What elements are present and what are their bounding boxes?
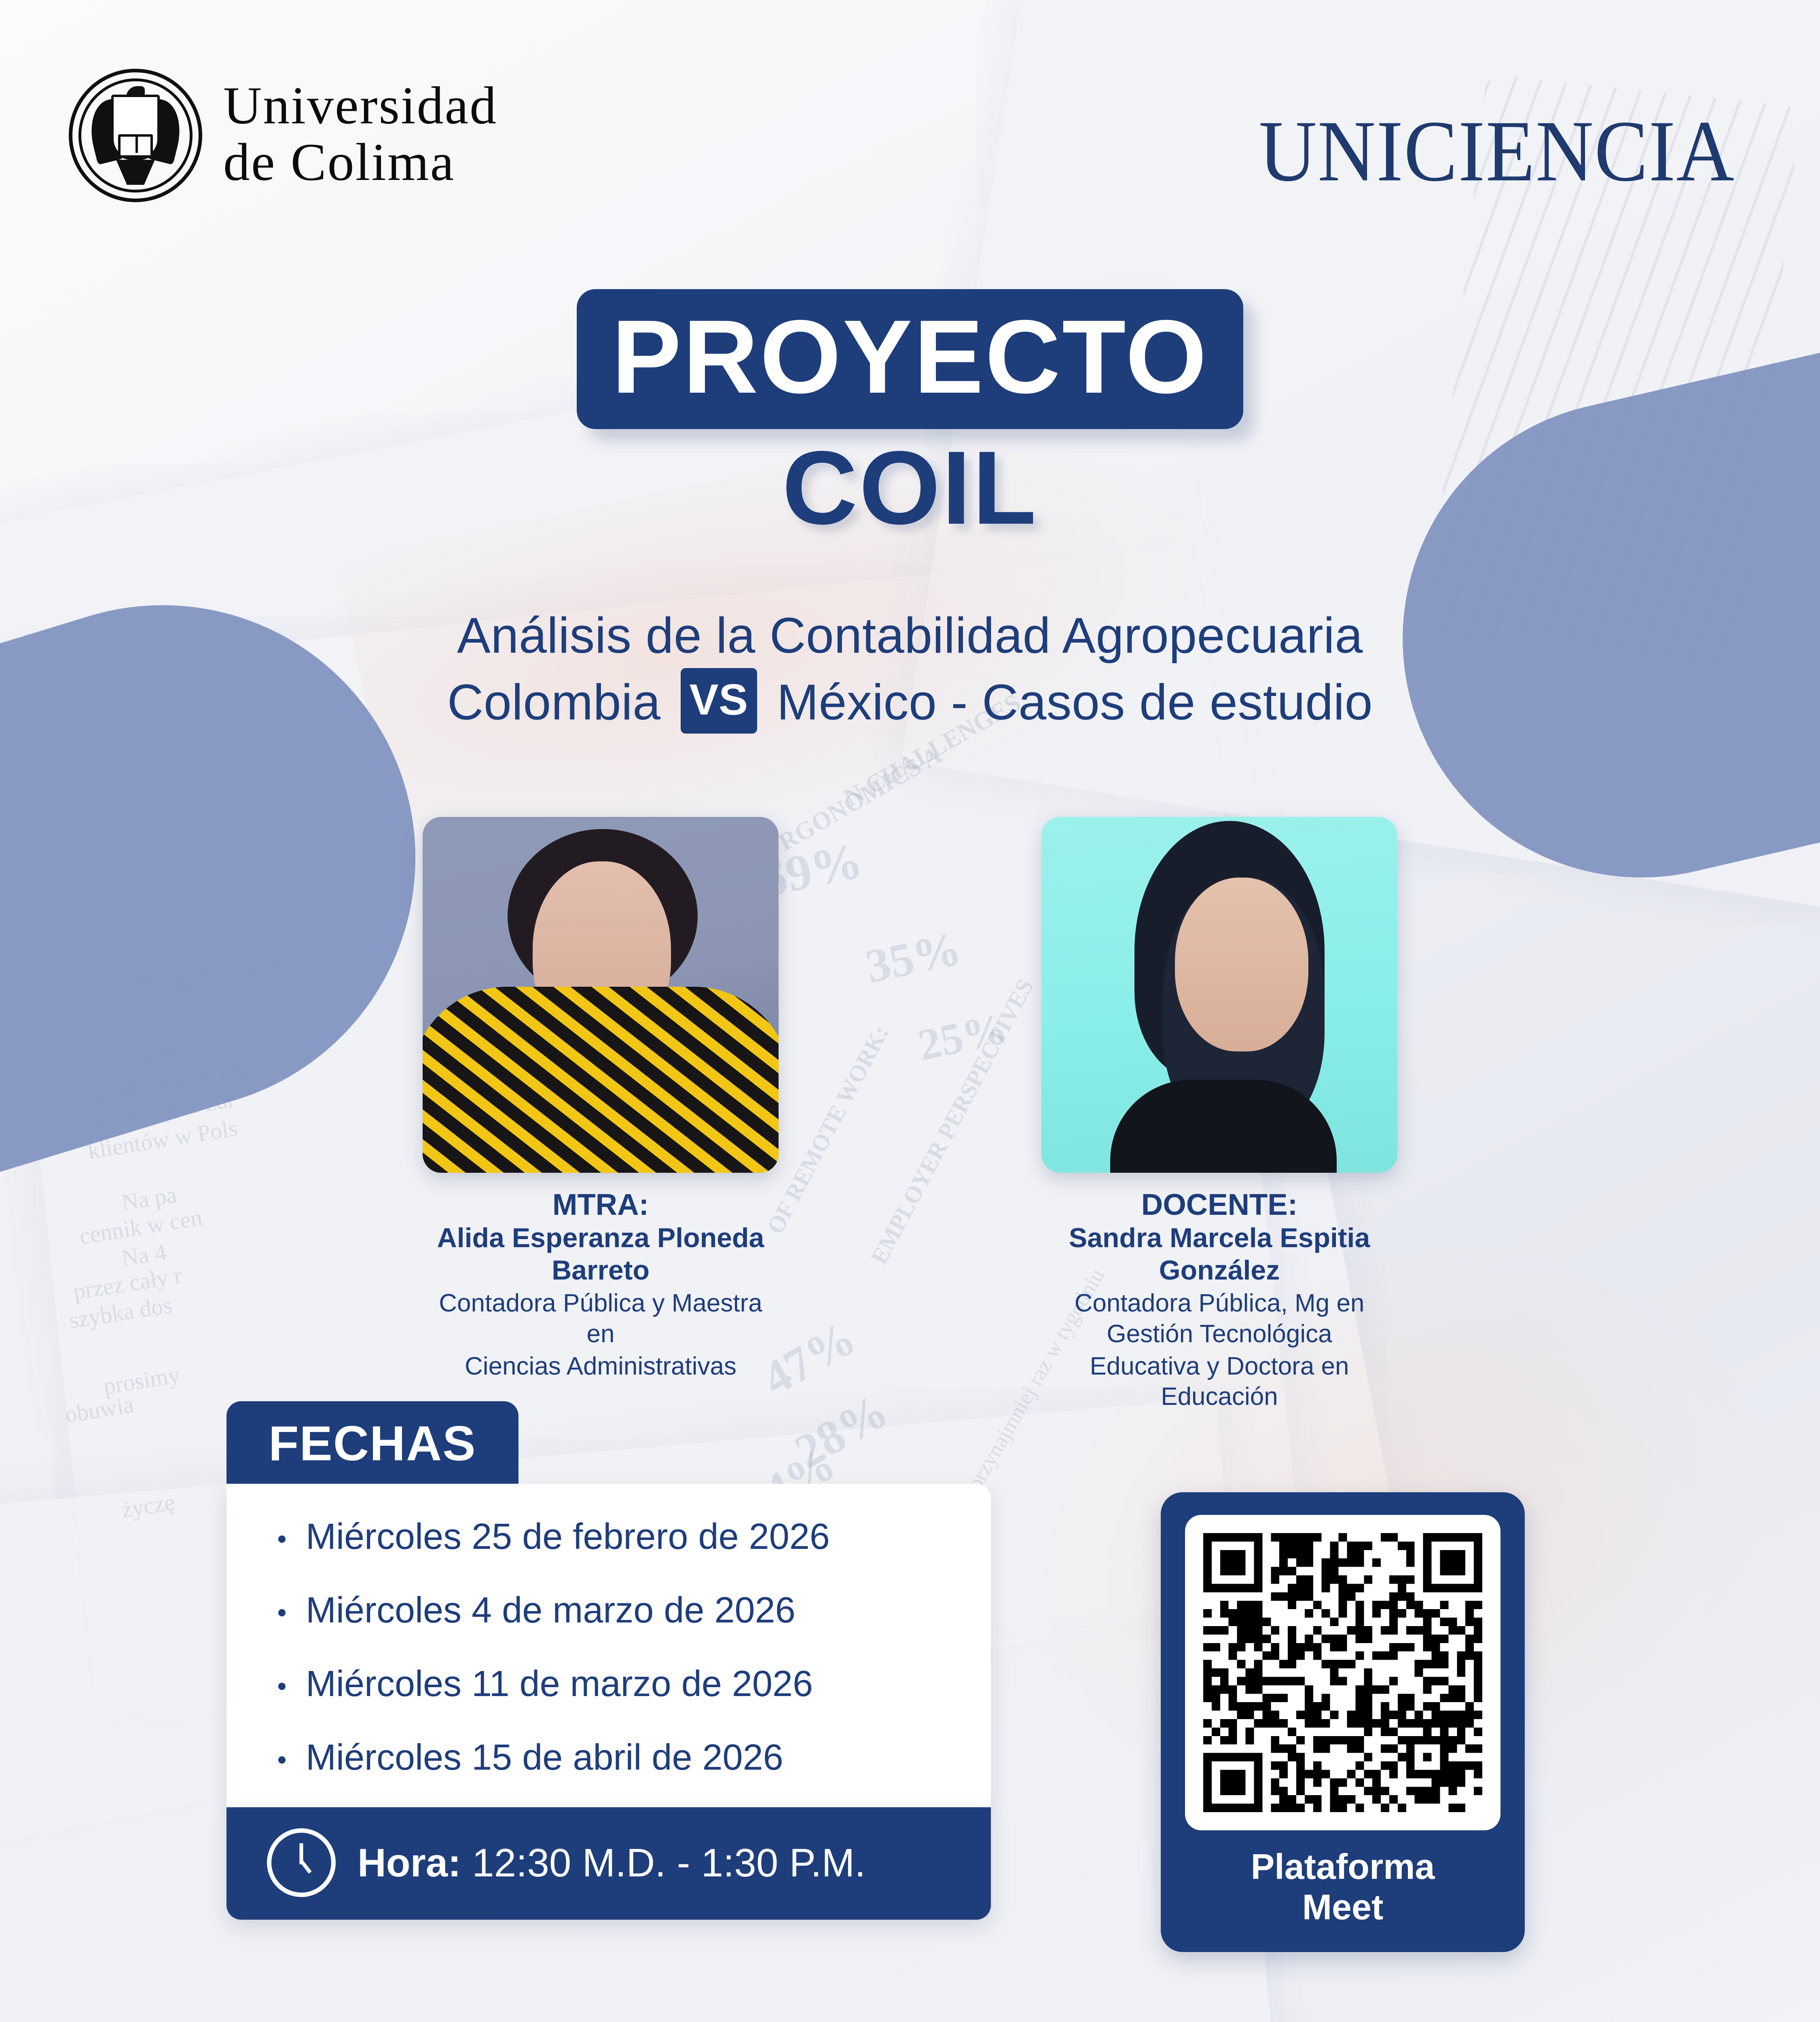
dates-card: FECHAS Miércoles 25 de febrero de 2026 M…	[226, 1401, 991, 1920]
time-value: 12:30 M.D. - 1:30 P.M.	[472, 1840, 866, 1885]
speaker-photo-2	[1041, 817, 1397, 1173]
dates-list-container: Miércoles 25 de febrero de 2026 Miércole…	[226, 1484, 991, 1807]
time-bar: Hora: 12:30 M.D. - 1:30 P.M.	[226, 1807, 991, 1920]
vs-badge: VS	[681, 668, 757, 734]
title-line2: COIL	[0, 433, 1820, 543]
date-item: Miércoles 15 de abril de 2026	[278, 1739, 991, 1776]
speaker-desc-1-line2: Ciencias Administrativas	[423, 1351, 779, 1382]
speaker-desc-2-line1: Contadora Pública, Mg en Gestión Tecnoló…	[1041, 1288, 1397, 1349]
clock-icon	[267, 1828, 336, 1897]
date-item: Miércoles 11 de marzo de 2026	[278, 1666, 991, 1702]
university-name-line1: Universidad	[223, 79, 497, 132]
qr-caption-line1: Plataforma	[1161, 1846, 1525, 1887]
speaker-name-2: Sandra Marcela Espitia González	[1041, 1222, 1397, 1286]
speaker-card-1: MTRA: Alida Esperanza Ploneda Barreto Co…	[423, 817, 779, 1412]
poster-subtitle: Análisis de la Contabilidad Agropecuaria…	[0, 603, 1820, 738]
time-text: Hora: 12:30 M.D. - 1:30 P.M.	[358, 1843, 866, 1882]
date-item: Miércoles 25 de febrero de 2026	[278, 1519, 991, 1555]
subtitle-country-mexico: México - Casos de estudio	[777, 675, 1373, 730]
dates-list: Miércoles 25 de febrero de 2026 Miércole…	[226, 1519, 991, 1776]
speaker-role-2: DOCENTE:	[1041, 1188, 1397, 1222]
qr-card[interactable]: Plataforma Meet	[1161, 1492, 1525, 1952]
qr-caption: Plataforma Meet	[1161, 1846, 1525, 1928]
qr-code-frame	[1185, 1515, 1500, 1830]
poster-root: Drogi Kliencie, Chcemy producentem obu j…	[0, 0, 1820, 2022]
subtitle-line1: Análisis de la Contabilidad Agropecuaria	[0, 603, 1820, 669]
dates-tab-label: FECHAS	[226, 1401, 518, 1484]
subtitle-country-colombia: Colombia	[447, 675, 661, 730]
speaker-name-1: Alida Esperanza Ploneda Barreto	[423, 1222, 779, 1286]
qr-caption-line2: Meet	[1161, 1887, 1525, 1927]
uniciencia-logo: UNICIENCIA	[1259, 101, 1735, 201]
university-logo: Universidad de Colima	[69, 69, 497, 202]
title-line1: PROYECTO	[577, 289, 1243, 429]
subtitle-line2: Colombia VS México - Casos de estudio	[0, 669, 1820, 738]
university-seal-icon	[69, 69, 202, 202]
time-label: Hora:	[358, 1840, 461, 1885]
speaker-photo-1	[423, 817, 779, 1173]
poster-title: PROYECTO COIL	[0, 289, 1820, 543]
qr-code-image[interactable]	[1203, 1533, 1482, 1812]
speaker-desc-2-line2: Educativa y Doctora en Educación	[1041, 1351, 1397, 1412]
speaker-desc-1-line1: Contadora Pública y Maestra en	[423, 1288, 779, 1349]
speaker-card-2: DOCENTE: Sandra Marcela Espitia González…	[1041, 817, 1397, 1412]
speaker-role-1: MTRA:	[423, 1188, 779, 1222]
date-item: Miércoles 4 de marzo de 2026	[278, 1592, 991, 1629]
university-name-line2: de Colima	[223, 132, 497, 192]
speakers-section: MTRA: Alida Esperanza Ploneda Barreto Co…	[0, 817, 1820, 1412]
